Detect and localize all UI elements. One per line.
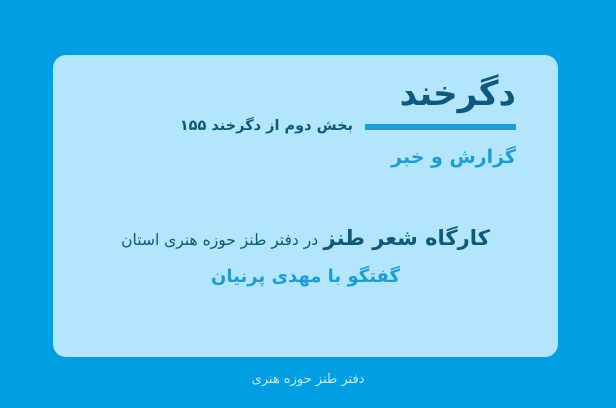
article-body: کارگاه شعر طنز در دفتر طنز حوزه هنری است… — [53, 223, 558, 289]
section-label: گزارش و خبر — [391, 146, 516, 169]
issue-subtitle: بخش دوم از دگرخند ۱۵۵ — [180, 116, 353, 136]
article-headline: کارگاه شعر طنز در دفتر طنز حوزه هنری است… — [71, 223, 540, 255]
article-subheadline: گفتگو با مهدی پرنیان — [71, 264, 540, 289]
headline-detail: در دفتر طنز حوزه هنری استان — [121, 231, 318, 249]
headline-emphasis: کارگاه شعر طنز — [324, 226, 490, 250]
masthead-rule-row: بخش دوم از دگرخند ۱۵۵ — [391, 116, 516, 138]
title-underline-rule — [365, 124, 516, 130]
masthead: دگرخند بخش دوم از دگرخند ۱۵۵ گزارش و خبر — [391, 77, 516, 168]
content-card: دگرخند بخش دوم از دگرخند ۱۵۵ گزارش و خبر… — [53, 55, 558, 357]
poster-canvas: دگرخند بخش دوم از دگرخند ۱۵۵ گزارش و خبر… — [0, 0, 616, 408]
footer-credit: دفتر طنز حوزه هنری — [0, 372, 616, 387]
publication-title: دگرخند — [391, 77, 516, 113]
